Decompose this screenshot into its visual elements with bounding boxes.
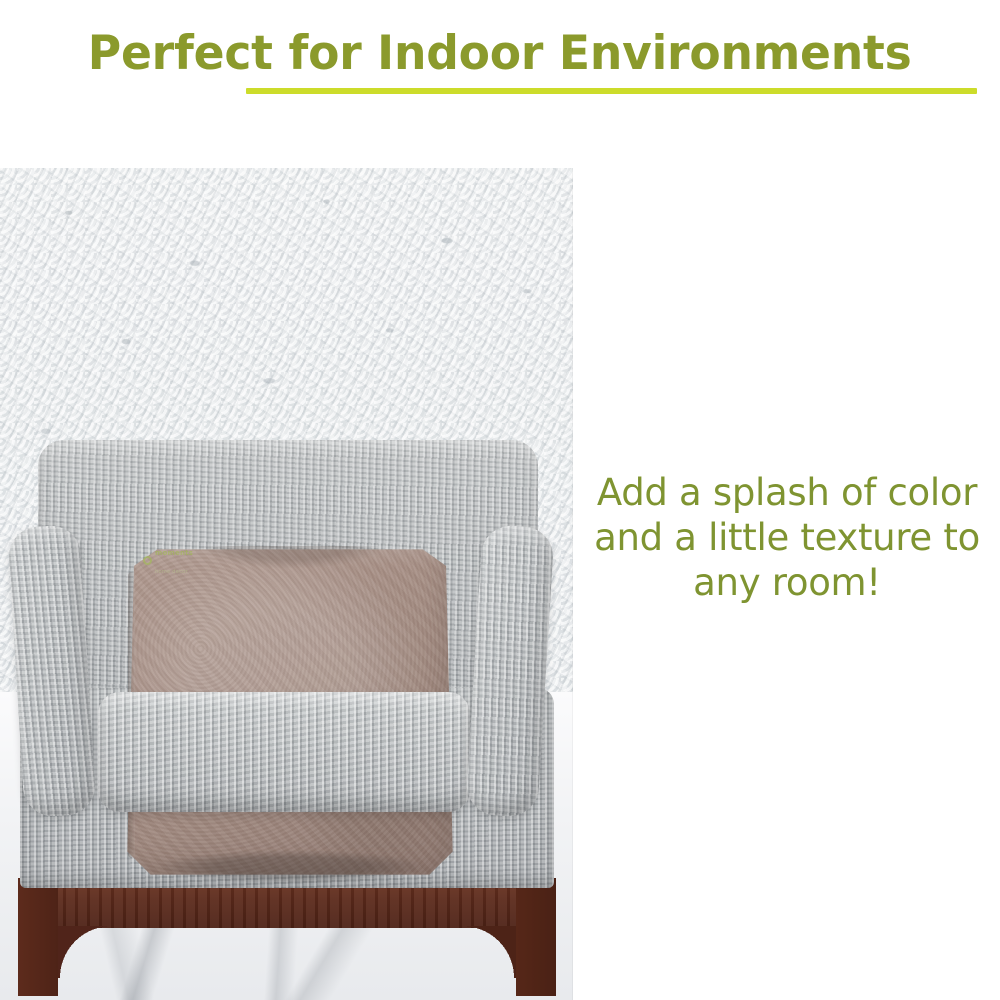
brand-watermark: moments home decor [143,542,193,578]
product-photo: moments home decor [0,168,573,1000]
pillow-drop-shadow [118,844,464,890]
page-title: Perfect for Indoor Environments [88,28,912,80]
watermark-tagline-label: home decor [155,569,188,575]
promo-line-1: Add a splash of color [585,470,989,515]
armchair-seat-cushion [98,692,470,812]
promo-text-block: Add a splash of color and a little textu… [585,470,989,605]
chair-wood-leg-left [18,878,58,996]
promo-line-3: any room! [585,560,989,605]
promo-line-2: and a little texture to [585,515,989,560]
headline-underline-rule [246,88,977,94]
headline-container: Perfect for Indoor Environments [0,28,1000,80]
product-marketing-image: Perfect for Indoor Environments moments … [0,0,1000,1000]
leaf-icon [143,556,152,565]
watermark-brand-label: moments [155,549,193,557]
chair-wood-leg-right [516,878,556,996]
